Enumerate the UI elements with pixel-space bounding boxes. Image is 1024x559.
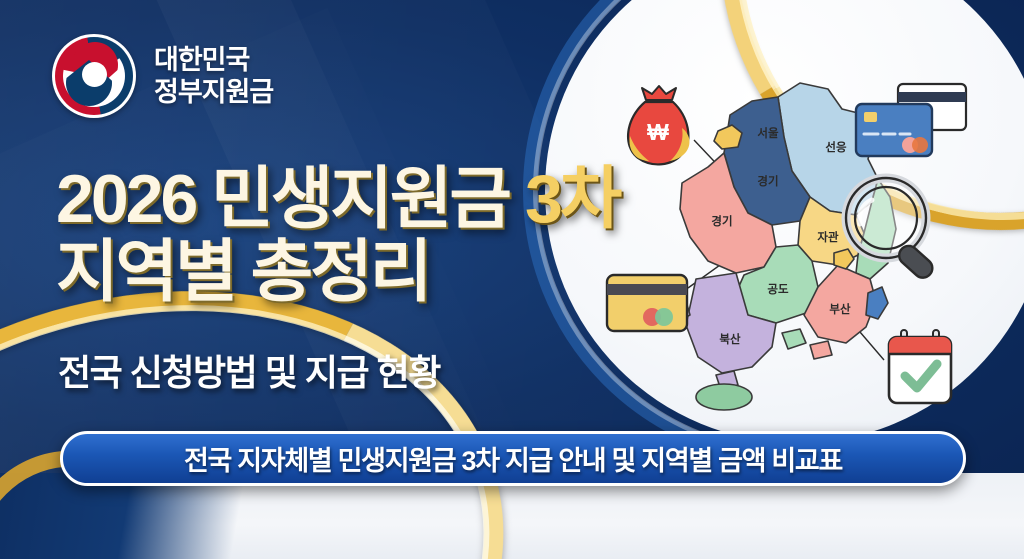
brand-line-2: 정부지원금 [154, 77, 273, 107]
gold-card-icon [604, 272, 690, 334]
svg-text:₩: ₩ [647, 119, 669, 145]
magnifier-icon [836, 170, 954, 288]
bottom-banner-text: 전국 지자체별 민생지원금 3차 지급 안내 및 지역별 금액 비교표 [184, 439, 842, 478]
taegeuk-emblem-icon [52, 34, 136, 118]
map-region-jeju [696, 384, 752, 410]
map-coast-bit [810, 341, 832, 359]
headline-line-2: 지역별 총정리 [56, 237, 429, 308]
brand-line-1: 대한민국 [154, 45, 273, 75]
brand-logo: 대한민국 정부지원금 [52, 34, 273, 118]
calendar-check-icon [884, 328, 956, 410]
credit-cards-icon [852, 82, 972, 164]
map-label-gongdo: 공도 [767, 283, 789, 296]
headline-accent: 3차 [525, 164, 619, 235]
map-region-coast-inset [866, 287, 888, 319]
map-label-seoul: 서울 [757, 126, 779, 140]
bottom-banner: 전국 지자체별 민생지원금 3차 지급 안내 및 지역별 금액 비교표 [60, 431, 966, 486]
headline-line-1: 2026 민생지원금 [56, 164, 509, 235]
map-label-seoneung: 선응 [825, 140, 847, 154]
map-coast-bit [782, 329, 806, 349]
map-label-gyeonggi-n: 경기 [757, 174, 778, 188]
money-bag-icon: ₩ [620, 84, 698, 168]
promo-banner: 대한민국 정부지원금 2026 민생지원금 3차 지역별 총정리 전국 신청방법… [0, 0, 1024, 559]
map-label-gyeonggi-w: 경기 [711, 214, 732, 228]
subtitle: 전국 신청방법 및 지급 현황 [58, 344, 440, 396]
map-label-busan-e: 부산 [829, 302, 851, 316]
map-label-buksan: 북산 [719, 332, 741, 346]
